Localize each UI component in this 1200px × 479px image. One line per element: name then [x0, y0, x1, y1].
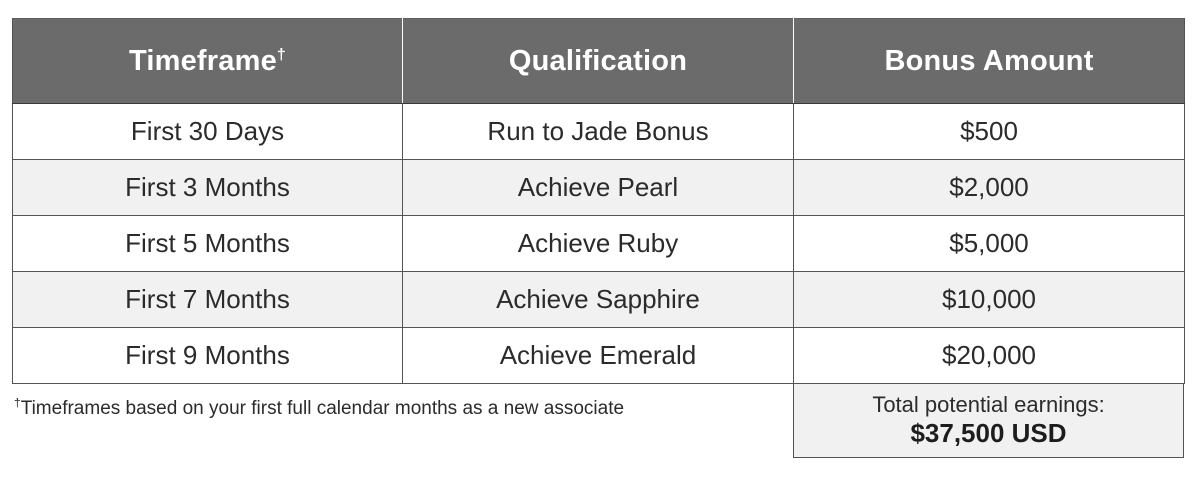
column-header-bonus-amount-label: Bonus Amount — [884, 45, 1093, 77]
cell-bonus-amount: $20,000 — [794, 328, 1185, 384]
bonus-schedule-page: Timeframe† Qualification Bonus Amount Fi… — [0, 0, 1200, 479]
column-header-qualification-label: Qualification — [509, 45, 687, 77]
cell-bonus-amount: $2,000 — [794, 160, 1185, 216]
cell-timeframe: First 30 Days — [13, 104, 403, 160]
cell-qualification: Run to Jade Bonus — [403, 104, 794, 160]
table-row: First 7 Months Achieve Sapphire $10,000 — [13, 272, 1185, 328]
table-row: First 3 Months Achieve Pearl $2,000 — [13, 160, 1185, 216]
footnote: †Timeframes based on your first full cal… — [14, 397, 774, 421]
table-body: First 30 Days Run to Jade Bonus $500 Fir… — [13, 104, 1185, 384]
table-row: First 5 Months Achieve Ruby $5,000 — [13, 216, 1185, 272]
total-label: Total potential earnings: — [872, 392, 1104, 417]
cell-bonus-amount: $10,000 — [794, 272, 1185, 328]
footnote-text: Timeframes based on your first full cale… — [21, 398, 624, 419]
total-value: $37,500 USD — [910, 419, 1066, 449]
column-header-qualification: Qualification — [403, 19, 794, 104]
cell-timeframe: First 9 Months — [13, 328, 403, 384]
cell-bonus-amount: $500 — [794, 104, 1185, 160]
cell-timeframe: First 5 Months — [13, 216, 403, 272]
footnote-marker-icon: † — [14, 396, 21, 410]
table-footer-area: †Timeframes based on your first full cal… — [12, 383, 1184, 459]
bonus-schedule-table: Timeframe† Qualification Bonus Amount Fi… — [12, 18, 1185, 384]
column-header-timeframe: Timeframe† — [13, 19, 403, 104]
timeframe-footnote-marker-icon: † — [277, 46, 286, 63]
cell-qualification: Achieve Emerald — [403, 328, 794, 384]
column-header-timeframe-label: Timeframe — [129, 45, 277, 77]
total-potential-earnings-box: Total potential earnings: $37,500 USD — [793, 383, 1184, 458]
cell-qualification: Achieve Sapphire — [403, 272, 794, 328]
cell-timeframe: First 3 Months — [13, 160, 403, 216]
table-header-row: Timeframe† Qualification Bonus Amount — [13, 19, 1185, 104]
cell-timeframe: First 7 Months — [13, 272, 403, 328]
cell-bonus-amount: $5,000 — [794, 216, 1185, 272]
column-header-bonus-amount: Bonus Amount — [794, 19, 1185, 104]
cell-qualification: Achieve Ruby — [403, 216, 794, 272]
cell-qualification: Achieve Pearl — [403, 160, 794, 216]
table-row: First 9 Months Achieve Emerald $20,000 — [13, 328, 1185, 384]
table-row: First 30 Days Run to Jade Bonus $500 — [13, 104, 1185, 160]
table-header: Timeframe† Qualification Bonus Amount — [13, 19, 1185, 104]
